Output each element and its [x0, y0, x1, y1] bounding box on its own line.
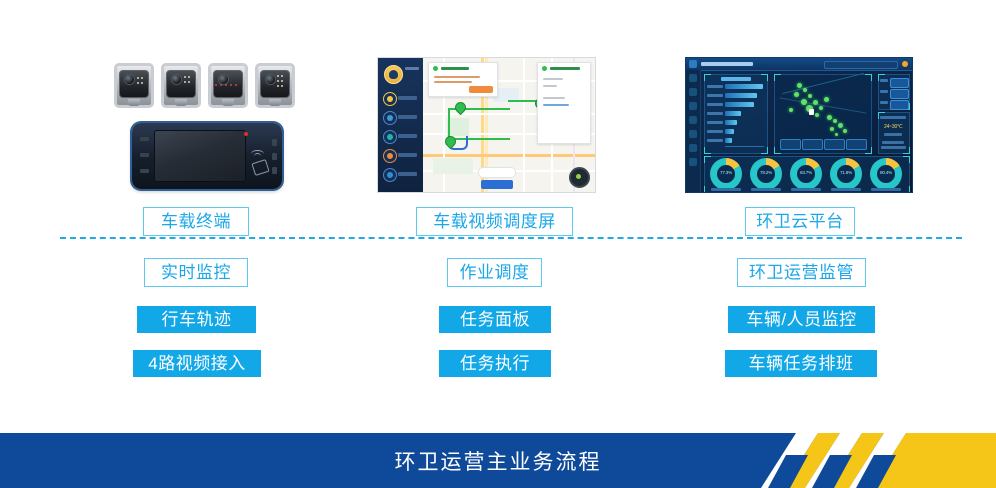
- dashboard-header: [686, 58, 912, 71]
- bar-chart-panel: [704, 74, 768, 154]
- avatar: [384, 65, 403, 84]
- map-legend-button-2[interactable]: [481, 180, 513, 189]
- vehicle-camera-icon: [161, 63, 201, 108]
- column-title-sanitation-cloud-platform[interactable]: 环卫云平台: [745, 207, 855, 236]
- column-item-four-channel-video[interactable]: 4路视频接入: [133, 350, 261, 377]
- map-canvas[interactable]: [423, 58, 595, 192]
- gauge-5: 80.4%: [870, 158, 902, 190]
- vehicle-camera-icon: [255, 63, 295, 108]
- slide-root: 24~30℃ 77.3% 78.2% 63.7% 71.8% 80.4%: [0, 0, 996, 488]
- gauge-3: 63.7%: [790, 158, 822, 190]
- map-info-card-right: [537, 62, 591, 144]
- dashboard-info-panel-bottom: 24~30℃: [878, 112, 910, 154]
- sidebar-item-voice-icon[interactable]: [383, 130, 397, 144]
- column-title-vehicle-terminal[interactable]: 车载终端: [143, 207, 249, 236]
- sidebar-item-history-icon[interactable]: [383, 111, 397, 125]
- gauge-row-panel: 77.3% 78.2% 63.7% 71.8% 80.4%: [704, 156, 910, 193]
- column-item-task-execution[interactable]: 任务执行: [439, 350, 551, 377]
- footer-title: 环卫运营主业务流程: [0, 433, 996, 488]
- gauge-2: 78.2%: [750, 158, 782, 190]
- dashboard-rail[interactable]: [686, 70, 701, 192]
- nfc-icon: [251, 159, 269, 176]
- sidebar-item-home-icon[interactable]: [383, 92, 397, 106]
- column-item-work-dispatch[interactable]: 作业调度: [447, 258, 542, 287]
- map-dispatch-screenshot: [377, 57, 596, 193]
- dispatch-sidebar: [378, 58, 423, 192]
- dashed-divider: [60, 237, 962, 239]
- column-item-driving-track[interactable]: 行车轨迹: [137, 306, 256, 333]
- map-info-card-left: [428, 62, 498, 97]
- map-compass-icon[interactable]: [569, 167, 590, 188]
- map-legend-button[interactable]: [478, 167, 516, 178]
- platform-logo-icon: [689, 60, 697, 68]
- terminal-device: [132, 123, 282, 189]
- column-item-realtime-monitor[interactable]: 实时监控: [144, 258, 248, 287]
- vehicle-camera-icon: [114, 63, 154, 108]
- cloud-platform-dashboard: 24~30℃ 77.3% 78.2% 63.7% 71.8% 80.4%: [685, 57, 913, 193]
- dashboard-map-panel: [774, 74, 872, 154]
- column-item-vehicle-personnel-monitor[interactable]: 车辆/人员监控: [728, 306, 875, 333]
- vehicle-terminal-photo: [110, 55, 305, 195]
- wifi-icon: [251, 143, 265, 155]
- column-item-vehicle-task-schedule[interactable]: 车辆任务排班: [725, 350, 877, 377]
- column-item-operation-supervision[interactable]: 环卫运营监管: [737, 258, 866, 287]
- gauge-4: 71.8%: [830, 158, 862, 190]
- sidebar-item-alert-icon[interactable]: [383, 149, 397, 163]
- footer-banner: 环卫运营主业务流程: [0, 433, 996, 488]
- sidebar-item-settings-icon[interactable]: [383, 168, 397, 182]
- dashboard-info-panel-top: [878, 74, 910, 110]
- column-title-video-dispatch-screen[interactable]: 车载视频调度屏: [416, 207, 573, 236]
- vehicle-camera-icon: [208, 63, 248, 108]
- bell-icon: [902, 61, 908, 67]
- gauge-1: 77.3%: [710, 158, 742, 190]
- column-item-task-panel[interactable]: 任务面板: [439, 306, 551, 333]
